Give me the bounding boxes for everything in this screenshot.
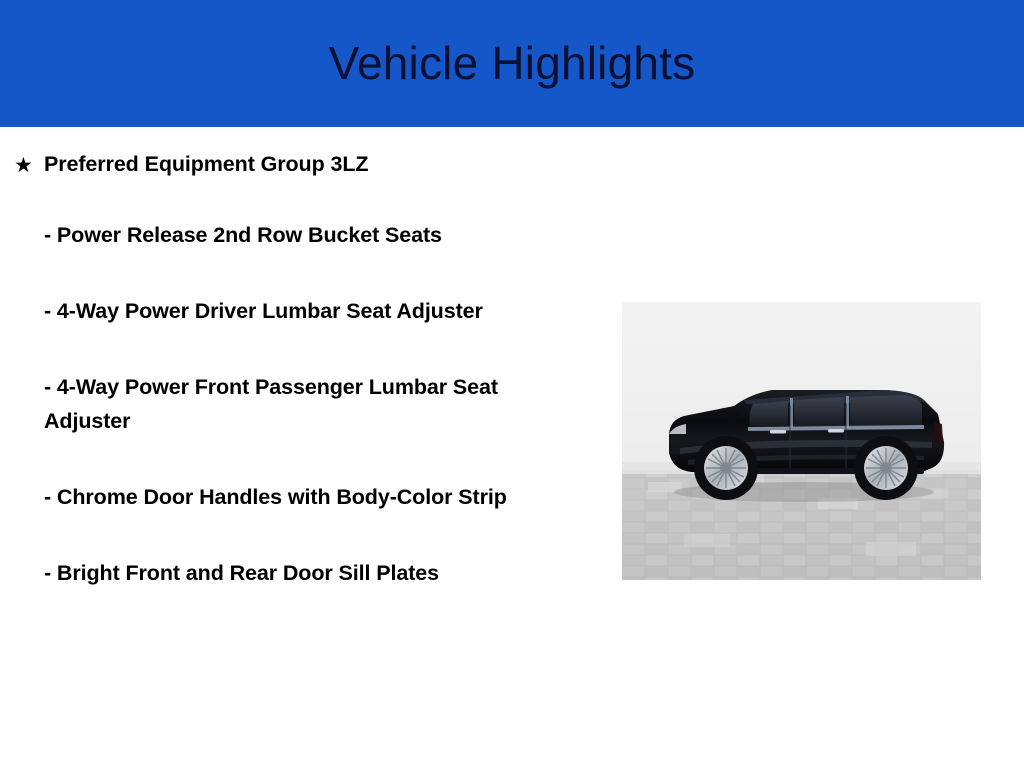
front-wheel	[694, 436, 758, 500]
feature-item: - Bright Front and Rear Door Sill Plates	[44, 514, 564, 590]
feature-group: ★ Preferred Equipment Group 3LZ - Power …	[0, 127, 600, 590]
feature-item: - 4-Way Power Driver Lumbar Seat Adjuste…	[44, 252, 564, 328]
taillight	[934, 422, 943, 442]
chrome-door-handle	[770, 430, 786, 434]
rear-wheel	[854, 436, 918, 500]
feature-item: - Power Release 2nd Row Bucket Seats	[44, 176, 564, 252]
quarter-window	[850, 395, 922, 426]
page-title: Vehicle Highlights	[0, 0, 1024, 127]
features-list: ★ Preferred Equipment Group 3LZ - Power …	[0, 127, 600, 590]
feature-group-heading: Preferred Equipment Group 3LZ	[44, 127, 600, 176]
feature-item: - 4-Way Power Front Passenger Lumbar Sea…	[44, 328, 564, 438]
vehicle-photo	[622, 302, 981, 580]
chrome-door-handle	[828, 429, 844, 433]
rear-door-window	[794, 397, 844, 426]
front-window	[749, 401, 788, 426]
vehicle-photo-illustration	[622, 302, 981, 580]
feature-item: - Chrome Door Handles with Body-Color St…	[44, 438, 564, 514]
star-icon: ★	[14, 155, 33, 176]
header-banner: Vehicle Highlights	[0, 0, 1024, 127]
